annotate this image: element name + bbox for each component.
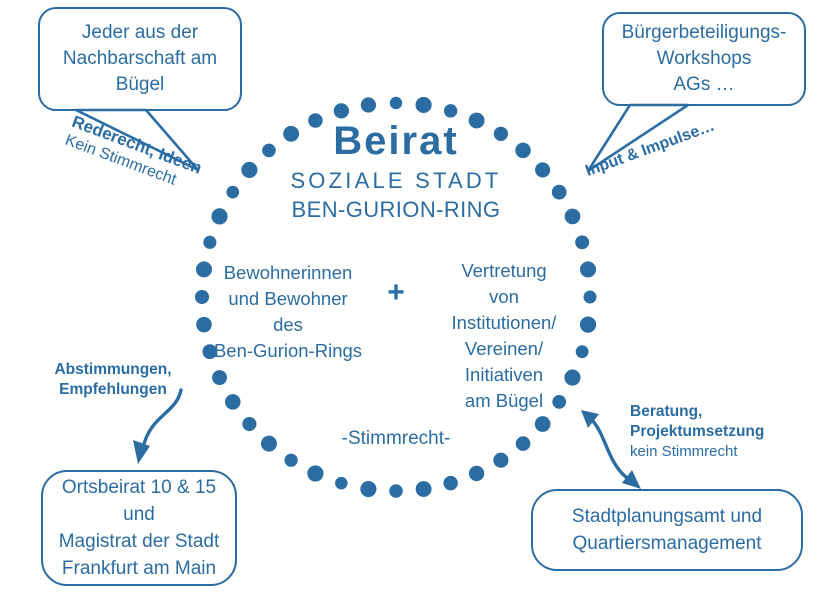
diagram-canvas: Beirat SOZIALE STADT BEN-GURION-RING Bew… (0, 0, 820, 600)
box-ortsbeirat-magistrat-text: Ortsbeirat 10 & 15 und Magistrat der Sta… (59, 474, 220, 582)
ring-dot (242, 417, 256, 431)
members-institutions-line-1: Vertretung (418, 258, 590, 284)
ring-dot (203, 236, 216, 249)
members-institutions-line-3: Institutionen/ (418, 310, 590, 336)
plus-icon: + (374, 258, 418, 306)
ring-dot (469, 466, 484, 481)
annotation-input-impulse: Input & Impulse… (583, 116, 718, 181)
speech-bubble-neighborhood-line-2: Nachbarschaft am (63, 46, 217, 72)
ring-dot (334, 103, 349, 118)
members-institutions-line-2: von (418, 284, 590, 310)
ring-dot (565, 209, 581, 225)
ring-dot (335, 477, 348, 490)
members-residents-line-2: und Bewohner (202, 286, 374, 312)
speech-bubble-participation-line-1: Bürgerbeteiligungs- (622, 20, 787, 46)
ring-dot (575, 235, 589, 249)
speech-bubble-participation-line-3: AGs … (622, 72, 787, 98)
annotation-beratung: Beratung, Projektumsetzung kein Stimmrec… (630, 402, 800, 462)
ring-dot (360, 481, 376, 497)
ring-dot (416, 481, 432, 497)
annotation-abstimmungen-line-1: Abstimmungen, (47, 360, 179, 380)
members-residents-line-1: Bewohnerinnen (202, 260, 374, 286)
arrow-beratung-head-down (622, 470, 641, 489)
members-institutions: Vertretung von Institutionen/ Vereinen/ … (418, 258, 590, 414)
box-stadtplanungsamt-text: Stadtplanungsamt und Quartiersmanagement (572, 503, 762, 557)
annotation-rederecht: Rederecht, Ideen Kein Stimmrecht (62, 112, 204, 197)
page-title: Beirat (226, 118, 566, 164)
speech-bubble-neighborhood-line-3: Bügel (63, 72, 217, 98)
ring-dot (535, 416, 551, 432)
arrow-beratung-line (591, 419, 627, 478)
members-residents-line-3: des (202, 312, 374, 338)
ring-dot (443, 476, 457, 490)
speech-bubble-neighborhood: Jeder aus der Nachbarschaft am Bügel (38, 7, 242, 111)
members-residents-line-4: Ben-Gurion-Rings (202, 338, 374, 364)
title-subtitle-location: BEN-GURION-RING (226, 196, 566, 224)
ring-dot (493, 453, 508, 468)
members-residents: Bewohnerinnen und Bewohner des Ben-Gurio… (202, 258, 374, 364)
members-institutions-line-6: am Bügel (418, 388, 590, 414)
ring-dot (444, 104, 457, 117)
ring-dot (285, 454, 298, 467)
box-stadtplanungsamt-quartiersmanagement: Stadtplanungsamt und Quartiersmanagement (531, 489, 803, 571)
title-subtitle-program: SOZIALE STADT (226, 166, 566, 196)
box-ortsbeirat-magistrat: Ortsbeirat 10 & 15 und Magistrat der Sta… (41, 470, 237, 586)
speech-bubble-participation-line-2: Workshops (622, 46, 787, 72)
ring-dot (416, 97, 432, 113)
annotation-beratung-line-3: kein Stimmrecht (630, 442, 800, 462)
annotation-beratung-line-1: Beratung, (630, 402, 800, 422)
annotation-abstimmungen-line-2: Empfehlungen (47, 380, 179, 400)
box-stadtplanungsamt-line-1: Stadtplanungsamt und (572, 503, 762, 530)
membership-columns: Bewohnerinnen und Bewohner des Ben-Gurio… (196, 258, 596, 414)
speech-bubble-neighborhood-text: Jeder aus der Nachbarschaft am Bügel (63, 20, 217, 98)
arrow-abstimmungen-head (133, 440, 150, 464)
ring-dot (361, 97, 376, 112)
box-ortsbeirat-line-2: und (59, 501, 220, 528)
box-stadtplanungsamt-line-2: Quartiersmanagement (572, 530, 762, 557)
ring-dot (307, 465, 323, 481)
ring-dot (389, 484, 403, 498)
speech-bubble-participation: Bürgerbeteiligungs- Workshops AGs … (602, 12, 806, 106)
voting-rights-note: -Stimmrecht- (256, 428, 536, 450)
center-title-block: Beirat SOZIALE STADT BEN-GURION-RING (226, 118, 566, 224)
box-ortsbeirat-line-4: Frankfurt am Main (59, 555, 220, 582)
annotation-abstimmungen: Abstimmungen, Empfehlungen (47, 360, 179, 400)
ring-dot (390, 97, 402, 109)
box-ortsbeirat-line-3: Magistrat der Stadt (59, 528, 220, 555)
box-ortsbeirat-line-1: Ortsbeirat 10 & 15 (59, 474, 220, 501)
members-institutions-line-5: Initiativen (418, 362, 590, 388)
speech-bubble-participation-text: Bürgerbeteiligungs- Workshops AGs … (622, 20, 787, 98)
members-institutions-line-4: Vereinen/ (418, 336, 590, 362)
speech-bubble-neighborhood-line-1: Jeder aus der (63, 20, 217, 46)
annotation-beratung-line-2: Projektumsetzung (630, 422, 800, 442)
